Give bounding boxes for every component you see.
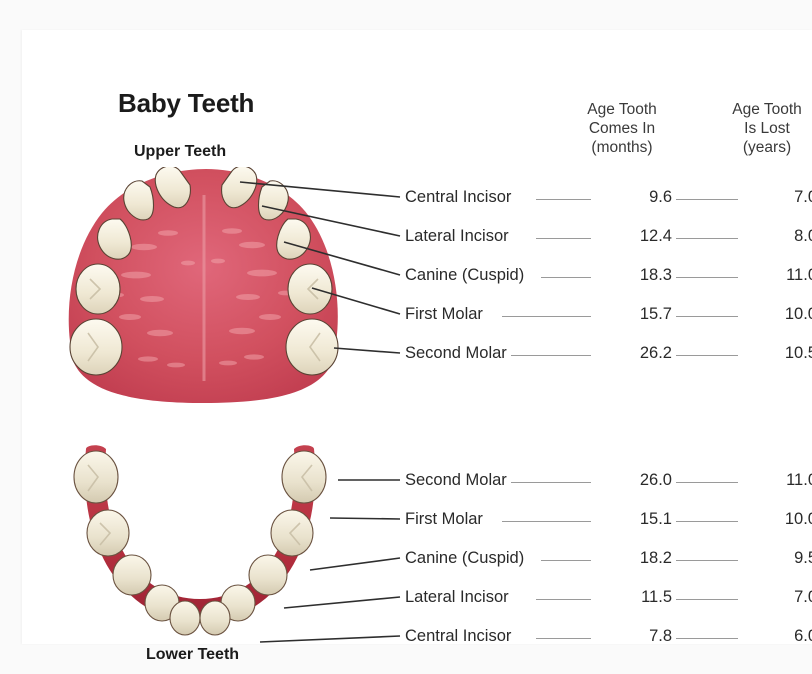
age-comes-in-value: 18.2	[600, 549, 672, 568]
tooth-name-label: Lateral Incisor	[405, 227, 509, 246]
connector-dash-left	[511, 355, 591, 356]
connector-dash-left	[536, 199, 592, 200]
tooth-name-label: Canine (Cuspid)	[405, 549, 524, 568]
age-is-lost-value: 10.5	[745, 344, 812, 363]
column-header-comes-in-line1: Age Tooth	[553, 100, 691, 119]
age-comes-in-value: 12.4	[600, 227, 672, 246]
age-is-lost-value: 10.0	[745, 510, 812, 529]
upper-teeth-label: Upper Teeth	[134, 143, 226, 161]
connector-dash-right	[676, 560, 738, 561]
tooth-upper-second-molar-left	[70, 319, 122, 375]
tooth-name-label: First Molar	[405, 510, 483, 529]
tooth-name-label: Canine (Cuspid)	[405, 266, 524, 285]
connector-dash-left	[541, 277, 591, 278]
age-is-lost-value: 10.0	[745, 305, 812, 324]
page-title: Baby Teeth	[118, 88, 254, 119]
age-is-lost-value: 7.0	[745, 588, 812, 607]
age-is-lost-value: 6.0	[745, 627, 812, 646]
upper-mouth-diagram	[56, 167, 352, 403]
tooth-name-label: Second Molar	[405, 344, 507, 363]
age-comes-in-value: 15.1	[600, 510, 672, 529]
age-is-lost-value: 7.0	[745, 188, 812, 207]
column-header-is-lost-line1: Age Tooth	[698, 100, 812, 119]
column-header-comes-in-line2: Comes In	[553, 119, 691, 138]
lower-mouth-diagram	[50, 435, 350, 647]
tooth-lower-canine-left	[113, 555, 151, 595]
column-header-comes-in-line3: (months)	[553, 138, 691, 157]
age-comes-in-value: 18.3	[600, 266, 672, 285]
connector-dash-left	[536, 599, 592, 600]
tooth-lower-canine-right	[249, 555, 287, 595]
connector-dash-right	[676, 238, 738, 239]
column-header-comes-in: Age Tooth Comes In (months)	[553, 100, 691, 157]
tooth-lower-second-molar-right	[282, 451, 326, 503]
connector-dash-right	[676, 638, 738, 639]
tooth-upper-first-molar-left	[76, 264, 120, 314]
connector-dash-left	[502, 521, 591, 522]
connector-dash-left	[541, 560, 591, 561]
tooth-name-label: First Molar	[405, 305, 483, 324]
age-is-lost-value: 8.0	[745, 227, 812, 246]
connector-dash-right	[676, 199, 738, 200]
column-header-is-lost: Age Tooth Is Lost (years)	[698, 100, 812, 157]
tooth-lower-central-incisor-right	[200, 601, 230, 635]
tooth-upper-second-molar-right	[286, 319, 338, 375]
tooth-lower-first-molar-right	[271, 510, 313, 556]
connector-dash-right	[676, 277, 738, 278]
tooth-lower-central-incisor-left	[170, 601, 200, 635]
tooth-name-label: Second Molar	[405, 471, 507, 490]
age-comes-in-value: 15.7	[600, 305, 672, 324]
age-comes-in-value: 9.6	[600, 188, 672, 207]
connector-dash-left	[502, 316, 591, 317]
age-is-lost-value: 11.0	[745, 266, 812, 285]
tooth-lower-second-molar-left	[74, 451, 118, 503]
connector-dash-left	[511, 482, 591, 483]
connector-dash-right	[676, 316, 738, 317]
tooth-upper-first-molar-right	[288, 264, 332, 314]
column-header-is-lost-line2: Is Lost	[698, 119, 812, 138]
lower-teeth-label: Lower Teeth	[146, 646, 239, 664]
connector-dash-right	[676, 599, 738, 600]
age-is-lost-value: 9.5	[745, 549, 812, 568]
tooth-name-label: Lateral Incisor	[405, 588, 509, 607]
age-comes-in-value: 7.8	[600, 627, 672, 646]
tooth-name-label: Central Incisor	[405, 627, 511, 646]
chart-card: Baby Teeth Upper Teeth Lower Teeth Age T…	[22, 30, 812, 644]
age-comes-in-value: 26.0	[600, 471, 672, 490]
connector-dash-right	[676, 355, 738, 356]
tooth-lower-first-molar-left	[87, 510, 129, 556]
age-comes-in-value: 26.2	[600, 344, 672, 363]
age-comes-in-value: 11.5	[600, 588, 672, 607]
connector-dash-left	[536, 238, 592, 239]
connector-dash-right	[676, 521, 738, 522]
connector-dash-right	[676, 482, 738, 483]
column-header-is-lost-line3: (years)	[698, 138, 812, 157]
age-is-lost-value: 11.0	[745, 471, 812, 490]
tooth-name-label: Central Incisor	[405, 188, 511, 207]
connector-dash-left	[536, 638, 592, 639]
